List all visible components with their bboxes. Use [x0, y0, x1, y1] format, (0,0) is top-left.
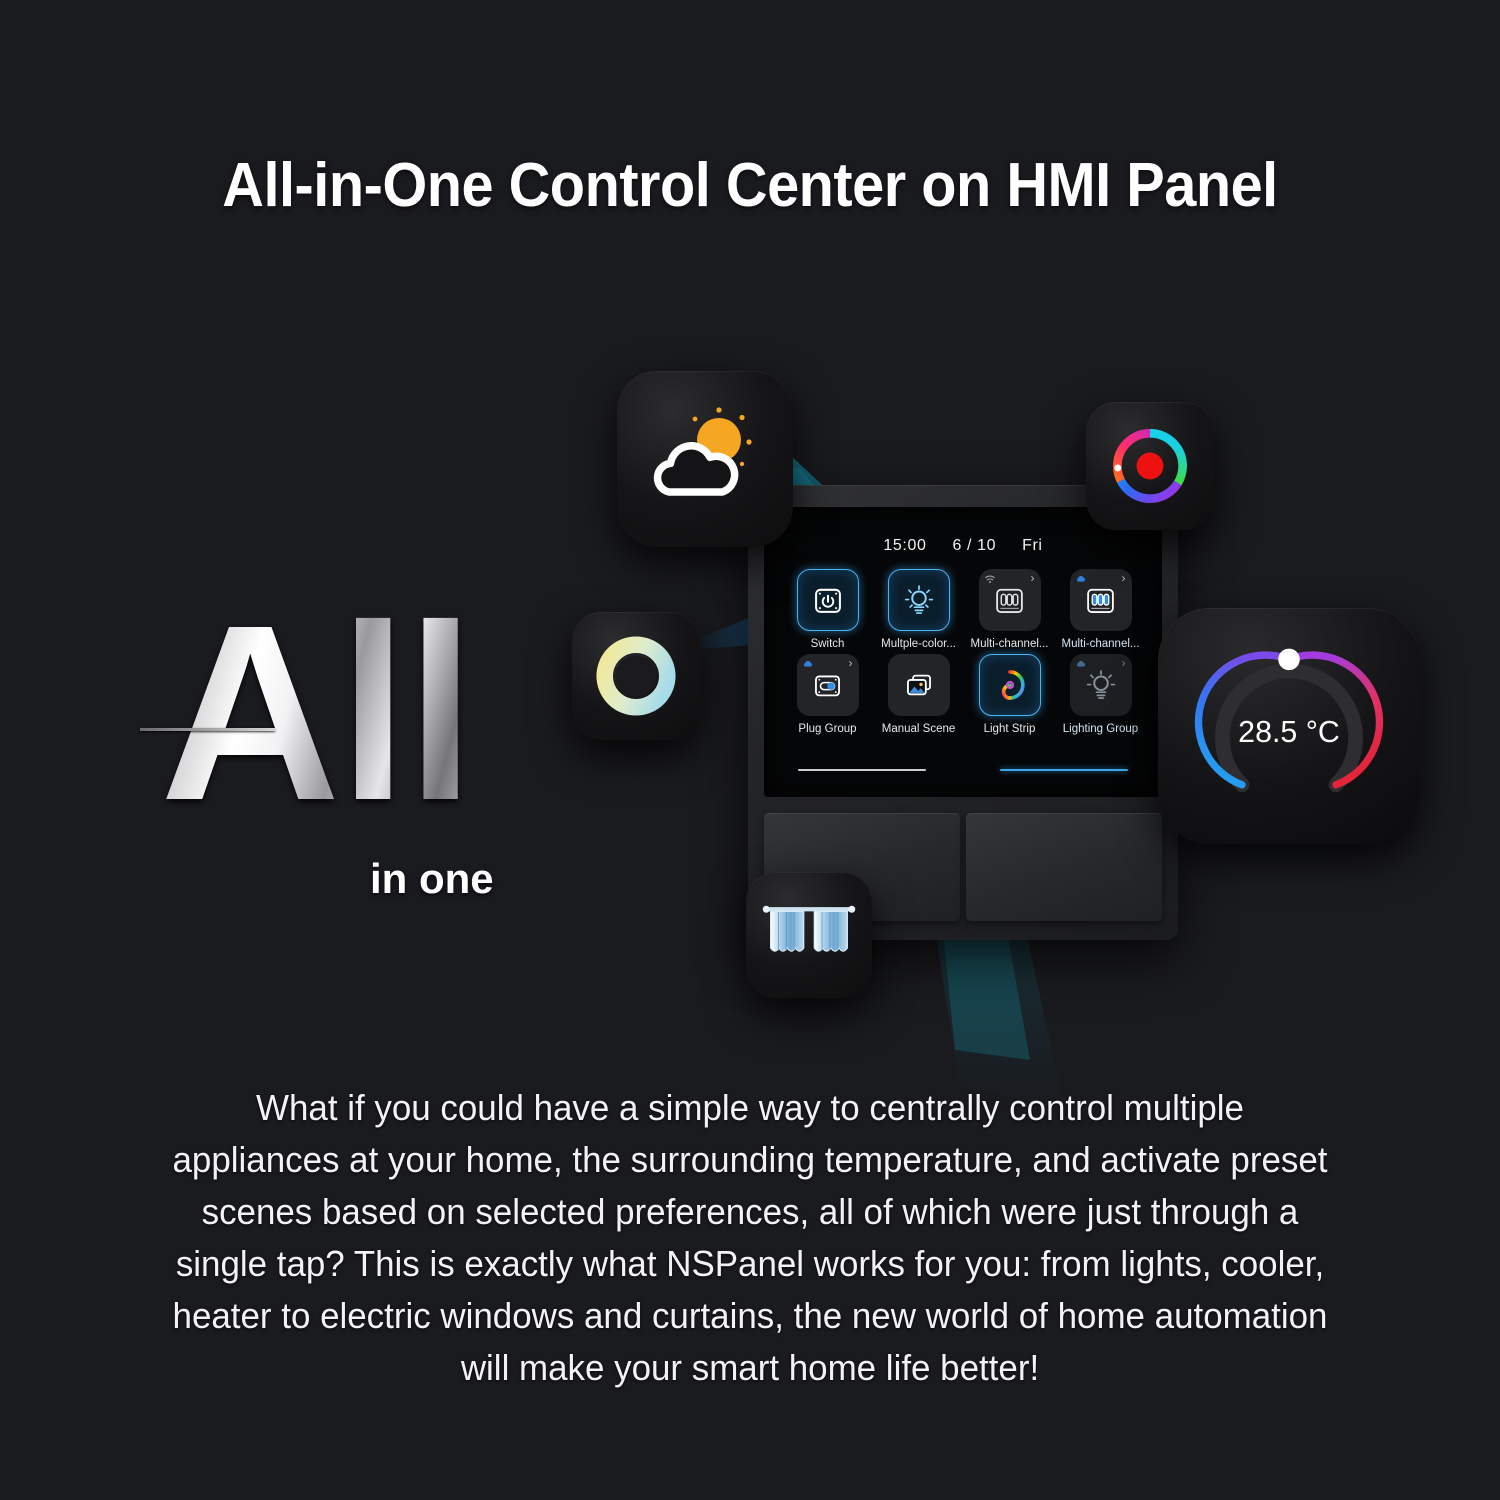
status-time: 15:00 — [883, 537, 926, 555]
cloud-icon — [1075, 573, 1087, 585]
chevron-right-icon: › — [1031, 572, 1035, 584]
tile-switch-button[interactable] — [797, 569, 859, 631]
tile-manual-scene-button[interactable] — [888, 654, 950, 716]
all-logo-subtitle: in one — [370, 855, 494, 903]
tile-plug-group[interactable]: › Plug Group — [782, 654, 873, 735]
thermostat-temperature: 28.5 °C — [1238, 715, 1340, 749]
rgb-color-wheel-icon — [1102, 418, 1198, 514]
cloud-icon — [802, 658, 814, 670]
tile-label: Switch — [811, 638, 845, 650]
rainbow-spiral-icon — [992, 667, 1028, 703]
all-logo-crossline — [140, 728, 275, 731]
wifi-icon — [984, 573, 996, 585]
tile-manual-scene[interactable]: Manual Scene — [873, 654, 964, 735]
all-logo-word: All — [160, 600, 473, 825]
tile-label: Multple-color... — [881, 638, 956, 650]
tile-plug-group-button[interactable]: › — [797, 654, 859, 716]
tile-lighting-group-button[interactable]: › — [1070, 654, 1132, 716]
curtain-icon — [761, 900, 857, 970]
chevron-right-icon: › — [1122, 572, 1126, 584]
color-bulb-icon — [901, 582, 937, 618]
tile-label: Multi-channel... — [971, 638, 1049, 650]
panel-screen[interactable]: 15:00 6 / 10 Fri — [764, 507, 1162, 797]
power-switch-icon — [811, 583, 845, 617]
color-temperature-ring-icon — [590, 630, 682, 722]
scene-photo-icon — [902, 668, 936, 702]
tile-label: Multi-channel... — [1062, 638, 1140, 650]
chevron-right-icon: › — [1122, 657, 1126, 669]
callout-color-temperature — [572, 612, 700, 740]
status-weekday: Fri — [1022, 537, 1042, 555]
bulb-icon — [1083, 667, 1119, 703]
tile-lighting-group[interactable]: › Lighting Group — [1055, 654, 1146, 735]
tile-label: Light Strip — [984, 723, 1036, 735]
body-paragraph: What if you could have a simple way to c… — [168, 1082, 1332, 1394]
chevron-right-icon: › — [849, 657, 853, 669]
callout-thermostat: 28.5 °C — [1158, 608, 1420, 844]
three-gang-switch-icon — [993, 584, 1026, 617]
status-date: 6 / 10 — [952, 537, 996, 555]
tile-multiple-color-button[interactable] — [888, 569, 950, 631]
tile-light-strip-button[interactable] — [979, 654, 1041, 716]
tile-multi-channel-2-button[interactable]: › — [1070, 569, 1132, 631]
tile-label: Plug Group — [798, 723, 856, 735]
callout-rgb-wheel — [1086, 402, 1214, 530]
tile-multi-channel-1[interactable]: › Multi-channel... — [964, 569, 1055, 650]
promo-banner: All-in-One Control Center on HMI Panel — [0, 0, 1500, 1500]
tile-grid: Switch — [782, 569, 1146, 735]
page-indicator-right[interactable] — [1000, 769, 1128, 771]
physical-button-right[interactable] — [966, 813, 1162, 921]
tile-label: Lighting Group — [1063, 723, 1138, 735]
tile-multi-channel-2[interactable]: › Multi-channel... — [1055, 569, 1146, 650]
plug-toggle-icon — [811, 669, 844, 702]
callout-weather — [617, 371, 793, 547]
three-gang-switch-on-icon — [1084, 584, 1117, 617]
tile-switch[interactable]: Switch — [782, 569, 873, 650]
page-indicator-left — [798, 769, 926, 771]
tile-multi-channel-1-button[interactable]: › — [979, 569, 1041, 631]
callout-curtain — [746, 872, 872, 998]
status-bar: 15:00 6 / 10 Fri — [764, 537, 1162, 555]
tile-label: Manual Scene — [882, 723, 956, 735]
weather-sun-cloud-icon — [645, 404, 765, 514]
tile-light-strip[interactable]: Light Strip — [964, 654, 1055, 735]
all-logo: All — [160, 600, 540, 840]
thermostat-dial: 28.5 °C — [1191, 628, 1387, 824]
tile-multiple-color[interactable]: Multple-color... — [873, 569, 964, 650]
